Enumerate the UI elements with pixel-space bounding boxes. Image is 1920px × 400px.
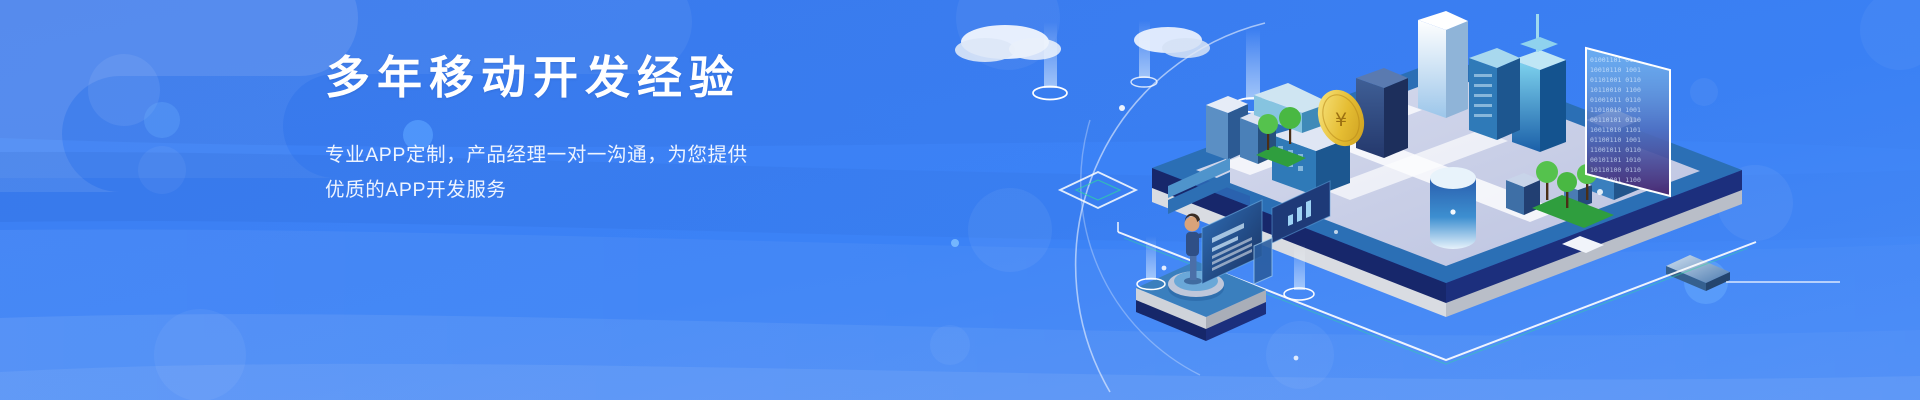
- particle-4: [1597, 189, 1603, 195]
- svg-text:10110100 0110: 10110100 0110: [1590, 166, 1641, 174]
- binary-data-panel: 01001101 011010010110 1001 01101001 0110…: [1586, 48, 1670, 196]
- floating-screen-side: [1254, 238, 1272, 284]
- coin-symbol: ¥: [1335, 109, 1347, 131]
- subtitle-line-2: 优质的APP开发服务: [325, 173, 845, 208]
- svg-text:11001011 0110: 11001011 0110: [1590, 146, 1641, 154]
- svg-text:10011010 1101: 10011010 1101: [1590, 126, 1641, 134]
- svg-text:10010110 1001: 10010110 1001: [1590, 66, 1641, 74]
- particle-2: [1294, 356, 1299, 361]
- building-spire: [1512, 14, 1566, 152]
- svg-text:10110010 1100: 10110010 1100: [1590, 86, 1641, 94]
- svg-text:00110101 0110: 00110101 0110: [1590, 116, 1641, 124]
- diamond-accent: [1060, 172, 1136, 208]
- svg-text:01101001 0110: 01101001 0110: [1590, 76, 1641, 84]
- svg-text:00101101 1010: 00101101 1010: [1590, 156, 1641, 164]
- connector-plug: [1666, 255, 1840, 291]
- banner-copy: 多年移动开发经验 专业APP定制，产品经理一对一沟通，为您提供 优质的APP开发…: [325, 52, 845, 208]
- building-striped: [1469, 48, 1520, 140]
- subtitle-line-1: 专业APP定制，产品经理一对一沟通，为您提供: [325, 138, 845, 173]
- hero-banner: 多年移动开发经验 专业APP定制，产品经理一对一沟通，为您提供 优质的APP开发…: [0, 0, 1920, 400]
- building-navy: [1356, 68, 1408, 158]
- person-body: [1186, 232, 1199, 256]
- svg-text:01001011 0110: 01001011 0110: [1590, 96, 1641, 104]
- building-glass-tower: [1418, 11, 1468, 118]
- svg-text:01100110 1001: 01100110 1001: [1590, 136, 1641, 144]
- page-title: 多年移动开发经验: [325, 52, 845, 104]
- building-cylinder: [1430, 167, 1476, 249]
- smart-city-illustration: ¥: [0, 0, 1920, 400]
- svg-text:11010010 1001: 11010010 1001: [1590, 106, 1641, 114]
- particle-1: [1162, 266, 1167, 271]
- particle-3: [1334, 230, 1338, 234]
